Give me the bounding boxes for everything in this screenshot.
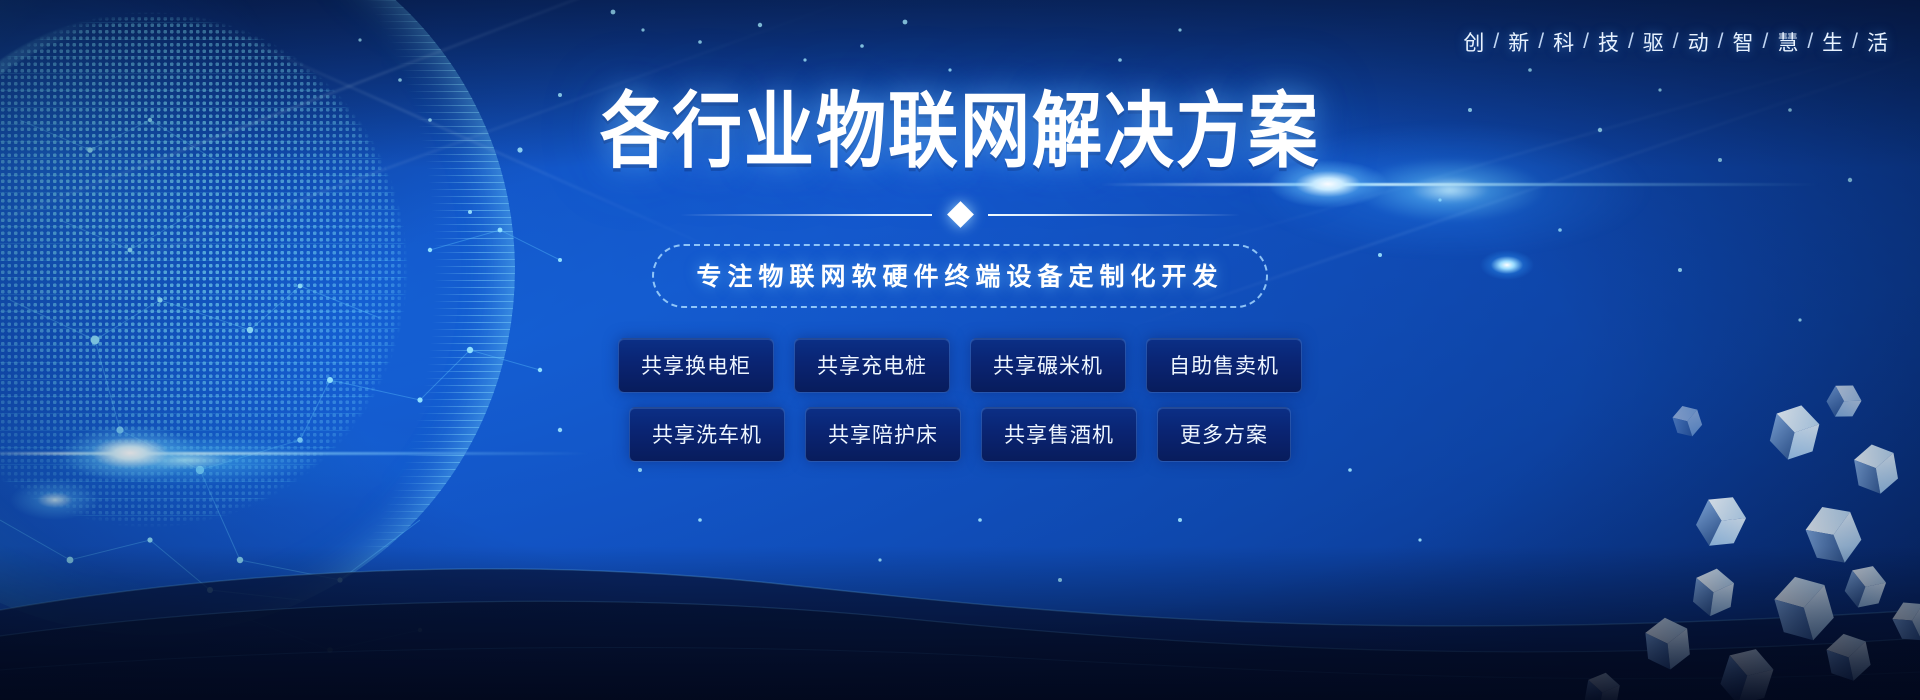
tagline-char: 技 — [1592, 27, 1627, 57]
solution-chip-row: 共享换电柜共享充电桩共享碾米机自助售卖机 — [618, 338, 1302, 393]
solution-chip[interactable]: 共享售酒机 — [981, 407, 1137, 462]
tagline-separator: / — [1761, 30, 1771, 54]
tagline-separator: / — [1582, 30, 1592, 54]
tagline-char: 智 — [1726, 27, 1761, 57]
tagline-char: 创 — [1457, 27, 1492, 57]
solution-chip-row: 共享洗车机共享陪护床共享售酒机更多方案 — [629, 407, 1291, 462]
divider-line-right — [988, 214, 1240, 216]
solution-chip[interactable]: 共享洗车机 — [629, 407, 785, 462]
tagline-separator: / — [1627, 30, 1637, 54]
tagline-char: 驱 — [1637, 27, 1672, 57]
tagline-separator: / — [1672, 30, 1682, 54]
tagline-separator: / — [1717, 30, 1727, 54]
title-divider — [680, 200, 1240, 228]
tagline-char: 科 — [1547, 27, 1582, 57]
solution-chip[interactable]: 共享碾米机 — [970, 338, 1126, 393]
solution-chip[interactable]: 共享换电柜 — [618, 338, 774, 393]
page-title: 各行业物联网解决方案 — [600, 90, 1320, 173]
tagline-char: 活 — [1861, 27, 1896, 57]
tagline-separator: / — [1537, 30, 1547, 54]
solution-chip[interactable]: 共享陪护床 — [805, 407, 961, 462]
solution-chip[interactable]: 自助售卖机 — [1146, 338, 1302, 393]
iot-solutions-banner: 创/新/科/技/驱/动/智/慧/生/活 各行业物联网解决方案 专注物联网软硬件终… — [0, 0, 1920, 700]
banner-center-block: 各行业物联网解决方案 专注物联网软硬件终端设备定制化开发 共享换电柜共享充电桩共… — [0, 96, 1920, 462]
tagline-separator: / — [1806, 30, 1816, 54]
tagline-char: 新 — [1502, 27, 1537, 57]
diamond-icon — [947, 201, 974, 228]
subtitle-pill: 专注物联网软硬件终端设备定制化开发 — [652, 244, 1267, 308]
solution-chip[interactable]: 更多方案 — [1157, 407, 1291, 462]
solution-chip-groups: 共享换电柜共享充电桩共享碾米机自助售卖机共享洗车机共享陪护床共享售酒机更多方案 — [618, 338, 1302, 462]
banner-content: 创/新/科/技/驱/动/智/慧/生/活 各行业物联网解决方案 专注物联网软硬件终… — [0, 0, 1920, 700]
tagline-separator: / — [1851, 30, 1861, 54]
divider-line-left — [680, 214, 932, 216]
tagline-char: 生 — [1816, 27, 1851, 57]
tagline-char: 慧 — [1771, 27, 1806, 57]
solution-chip[interactable]: 共享充电桩 — [794, 338, 950, 393]
slogan-tagline: 创/新/科/技/驱/动/智/慧/生/活 — [1457, 27, 1896, 57]
tagline-separator: / — [1492, 30, 1502, 54]
tagline-char: 动 — [1682, 27, 1717, 57]
